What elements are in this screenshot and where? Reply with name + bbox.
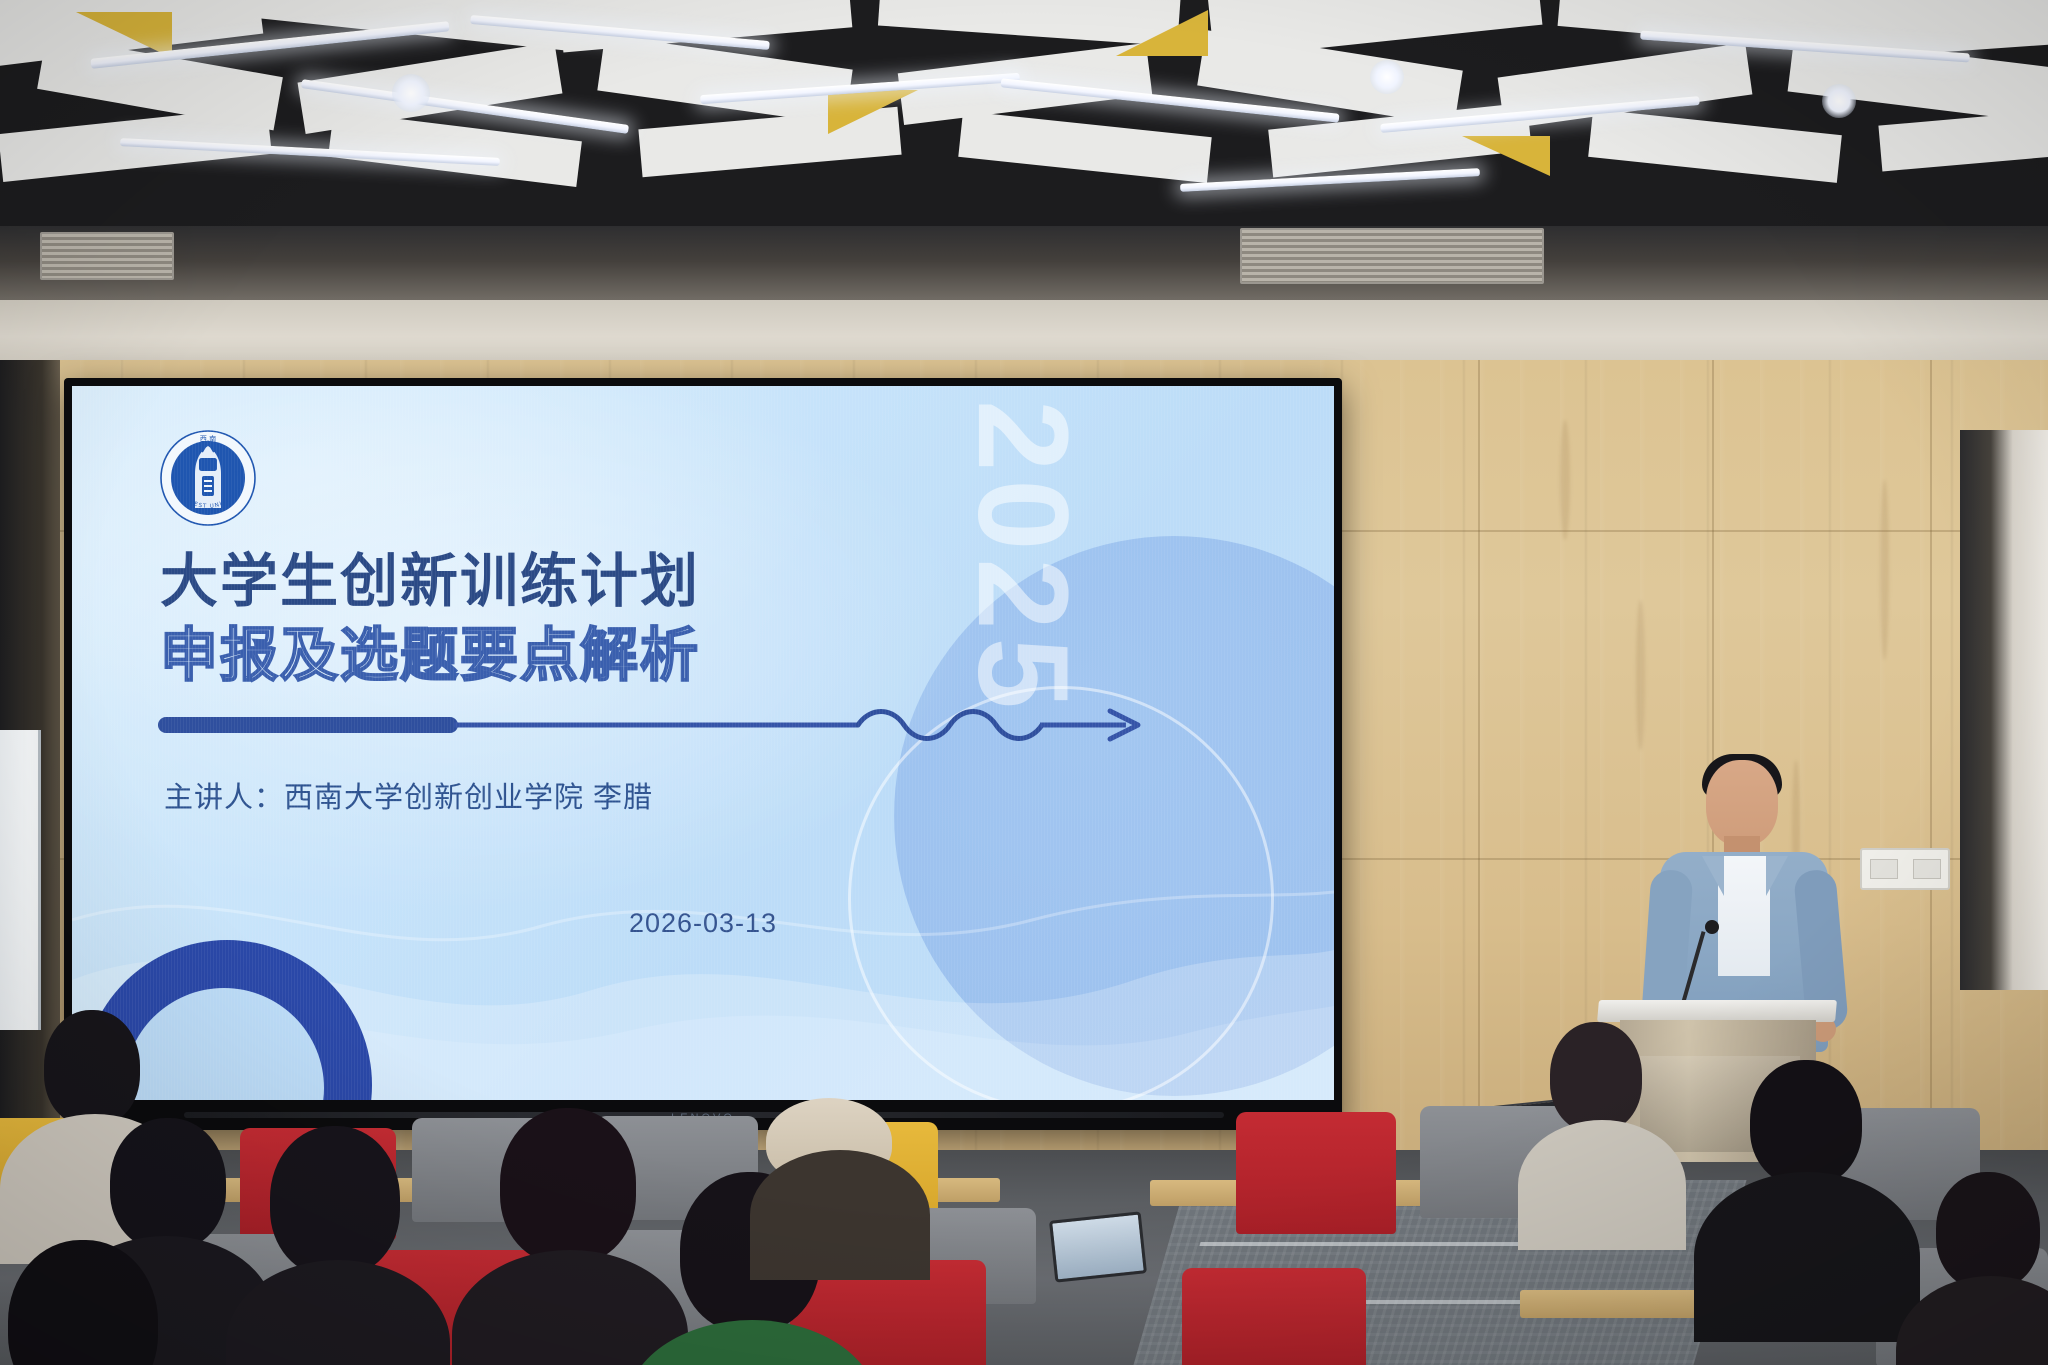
slide-presenter: 主讲人：西南大学创新创业学院 李腊 [164, 774, 653, 816]
person-head [1936, 1172, 2040, 1290]
person-head [270, 1126, 400, 1276]
slide-date: 2026-03-13 [72, 908, 1334, 939]
speaker-shirt [1718, 856, 1770, 976]
light-switch[interactable] [1870, 859, 1898, 879]
speaker-head [1706, 760, 1778, 846]
ceiling-panel [958, 111, 1211, 183]
ceiling-panel [328, 111, 582, 187]
wood-grain [1880, 480, 1889, 660]
speaker-collar-left [1702, 856, 1724, 896]
wood-seam [1930, 360, 1932, 1160]
person-head [1750, 1060, 1862, 1186]
presentation-slide: 2025 西 南 大 学 SOUTHWEST UNIVERSITY [72, 386, 1334, 1100]
ceiling [0, 0, 2048, 232]
ceiling-accent-panel [1116, 10, 1208, 56]
person-head [500, 1108, 636, 1264]
person-shoulders [1694, 1172, 1920, 1342]
ceiling-panel [1878, 107, 2048, 172]
slide-title-line2: 申报及选题要点解析 [160, 622, 960, 690]
decorative-arrow [158, 701, 1188, 757]
air-vent [1240, 228, 1544, 284]
person-shoulders [1518, 1120, 1686, 1250]
presentation-display[interactable]: 2025 西 南 大 学 SOUTHWEST UNIVERSITY [64, 378, 1342, 1130]
wood-grain [1560, 420, 1570, 540]
svg-text:大: 大 [176, 470, 182, 478]
ceiling-spotlight [1822, 84, 1856, 118]
speaker-collar-right [1766, 856, 1788, 896]
light-switch[interactable] [1913, 859, 1941, 879]
person-head [1550, 1022, 1642, 1132]
year-watermark: 2025 [949, 400, 1096, 717]
seat-red [1182, 1268, 1366, 1365]
ceiling-accent-panel [828, 90, 918, 134]
slide-title-block: 大学生创新训练计划 申报及选题要点解析 [160, 548, 960, 691]
ceiling-spotlight [1370, 60, 1404, 94]
person-shoulders [750, 1150, 930, 1280]
wood-seam [1478, 360, 1480, 1160]
svg-text:学: 学 [234, 470, 240, 478]
whiteboard [0, 730, 41, 1030]
ceiling-panel [1588, 109, 1842, 183]
person-head [44, 1010, 140, 1126]
air-vent [40, 232, 174, 280]
tablet-device[interactable] [1049, 1211, 1147, 1282]
svg-text:西 南: 西 南 [200, 434, 216, 443]
seat-red [1236, 1112, 1396, 1234]
slide-title-line1: 大学生创新训练计划 [160, 548, 960, 616]
microphone-icon [1705, 920, 1719, 934]
podium-top-surface [1597, 1000, 1837, 1022]
ceiling-panel [597, 35, 852, 125]
lecture-hall-photo: 2025 西 南 大 学 SOUTHWEST UNIVERSITY [0, 0, 2048, 1365]
ceiling-spotlight [392, 74, 430, 112]
university-logo-icon: 西 南 大 学 SOUTHWEST UNIVERSITY [158, 428, 258, 528]
door-frame [1960, 430, 2048, 990]
wood-grain [1636, 600, 1645, 750]
wall-control-panel[interactable] [1860, 848, 1950, 890]
ceiling-light-strip [1180, 168, 1480, 192]
person-head [110, 1118, 226, 1250]
